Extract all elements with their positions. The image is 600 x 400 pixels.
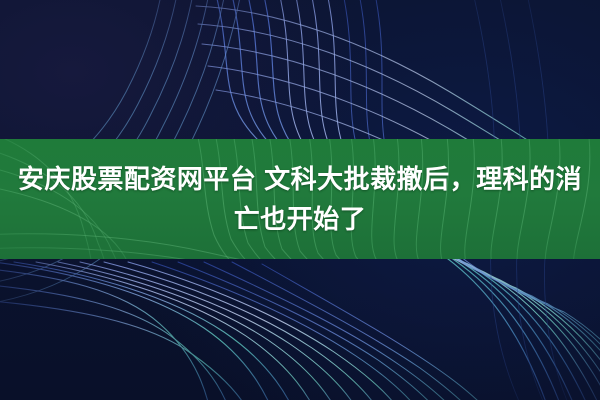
headline-container: 安庆股票配资网平台 文科大批裁撤后，理科的消亡也开始了 bbox=[0, 139, 600, 259]
banner-image: 安庆股票配资网平台 文科大批裁撤后，理科的消亡也开始了 bbox=[0, 0, 600, 400]
page-title: 安庆股票配资网平台 文科大批裁撤后，理科的消亡也开始了 bbox=[14, 159, 586, 239]
